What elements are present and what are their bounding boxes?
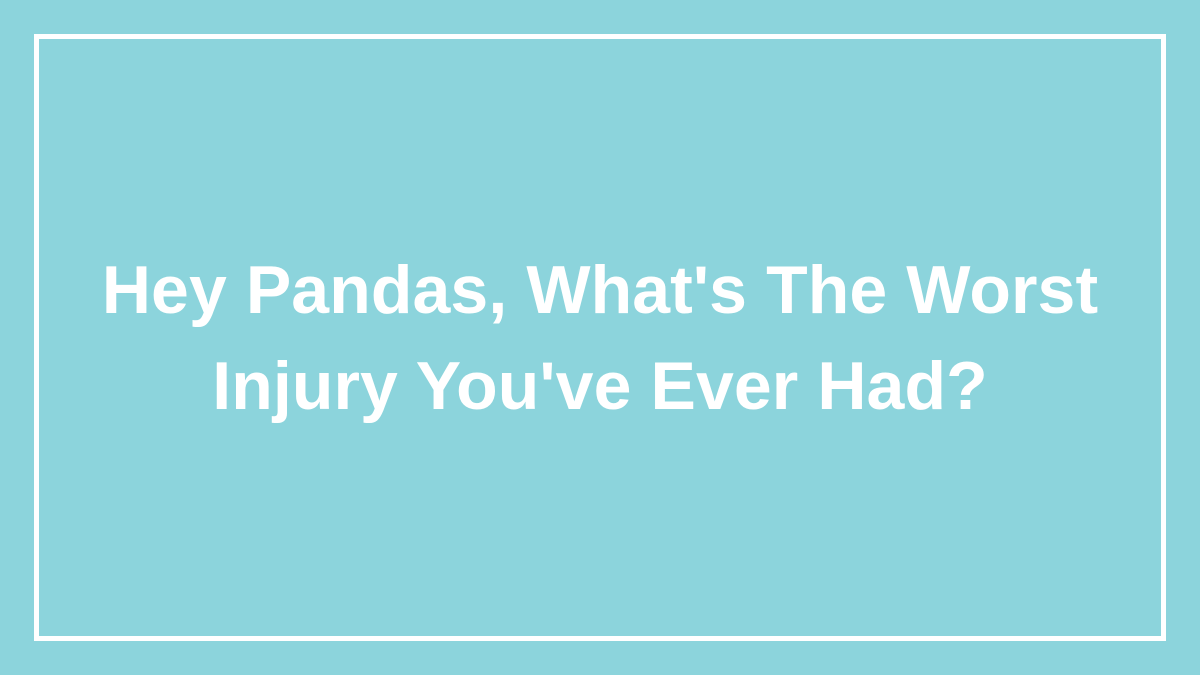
- banner-canvas: Hey Pandas, What's The Worst Injury You'…: [0, 0, 1200, 675]
- decorative-border-frame: Hey Pandas, What's The Worst Injury You'…: [34, 34, 1166, 641]
- headline-line-2: Injury You've Ever Had?: [79, 338, 1121, 434]
- headline-line-1: Hey Pandas, What's The Worst: [79, 242, 1121, 338]
- headline-text-block: Hey Pandas, What's The Worst Injury You'…: [39, 242, 1161, 434]
